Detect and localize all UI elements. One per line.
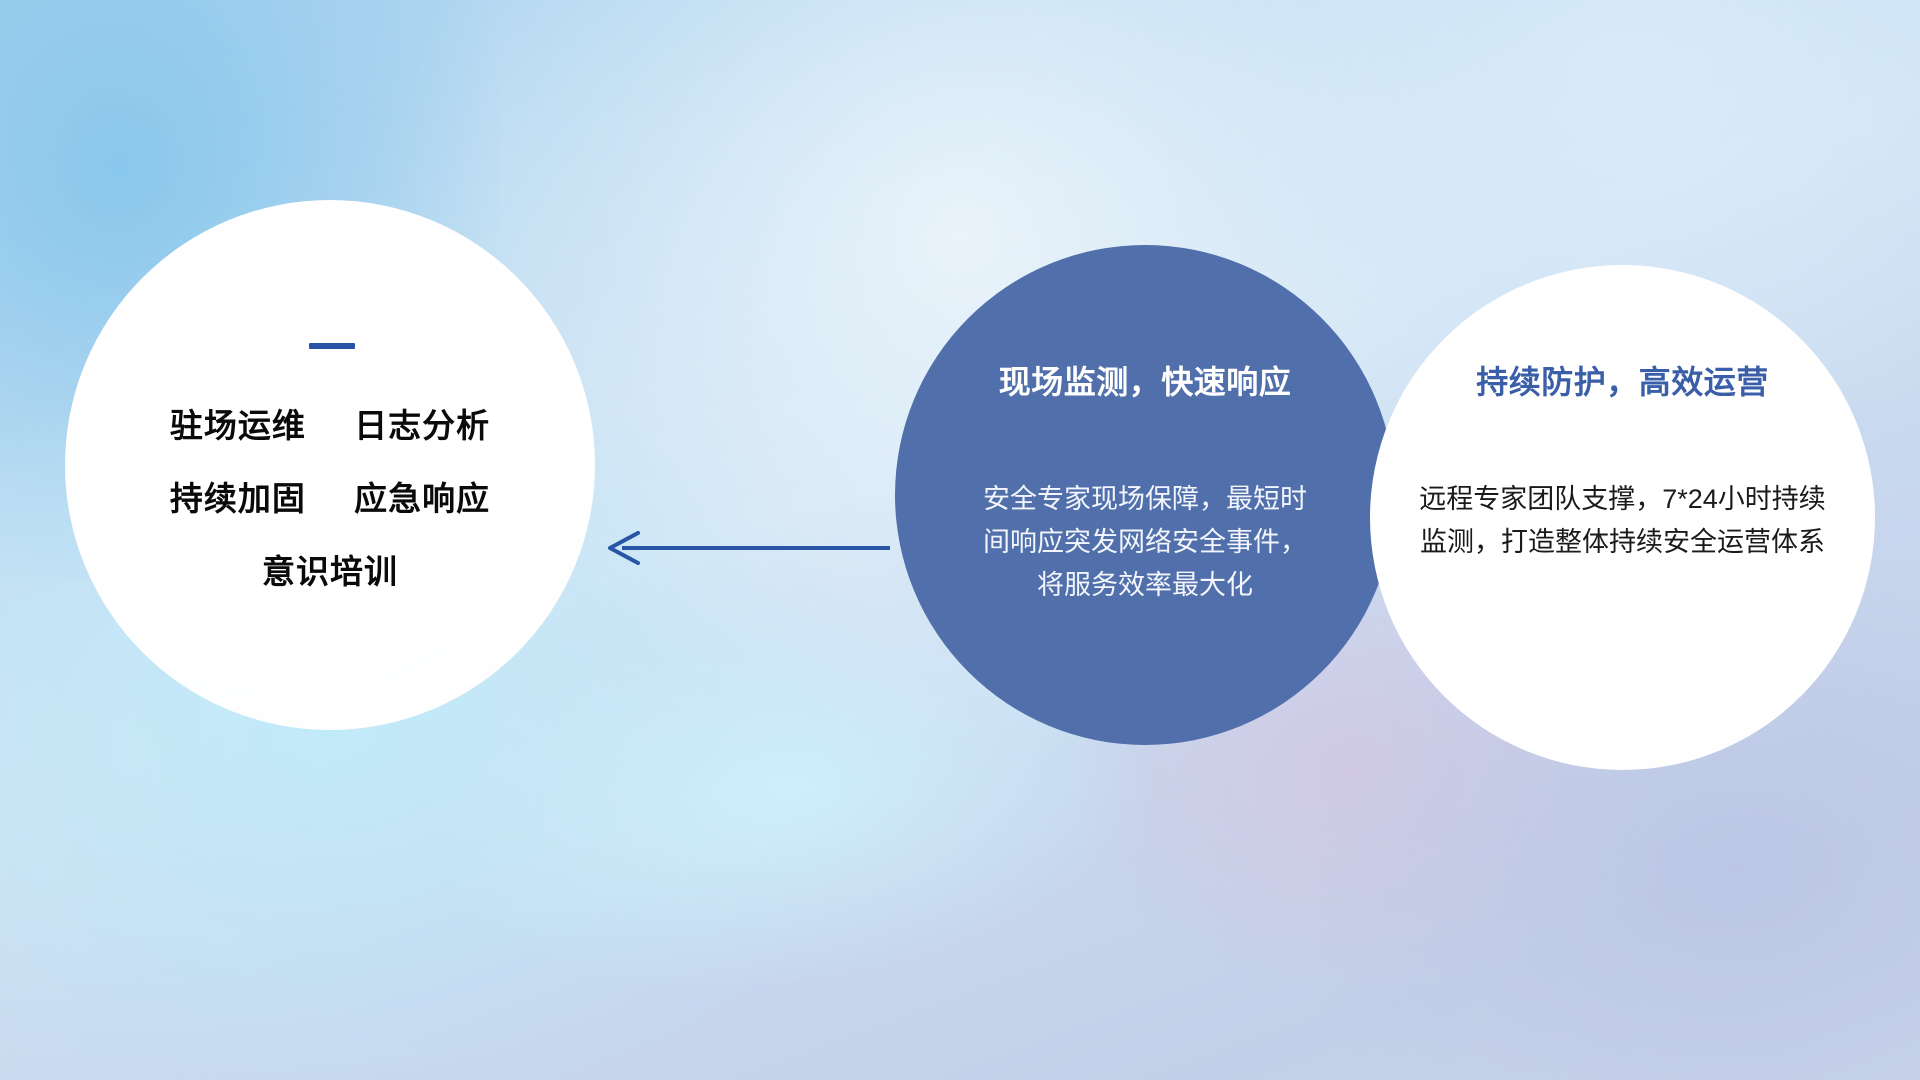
right-circle-title: 持续防护，高效运营	[1476, 365, 1769, 400]
middle-circle-title: 现场监测，快速响应	[999, 365, 1292, 400]
capability-item-log-analysis: 日志分析	[354, 407, 490, 444]
right-circle-body: 远程专家团队支撑，7*24小时持续监测，打造整体持续安全运营体系	[1413, 478, 1833, 563]
capability-item-emergency-response: 应急响应	[354, 480, 490, 517]
capability-row-3: 意识培训	[262, 555, 398, 588]
left-circle-content: 驻场运维 日志分析 持续加固 应急响应 意识培训	[65, 200, 595, 730]
capability-item-onsite-ops: 驻场运维	[170, 407, 306, 444]
capability-row-2: 持续加固 应急响应	[170, 482, 490, 515]
capability-item-continuous-hardening: 持续加固	[170, 480, 306, 517]
capability-row-1: 驻场运维 日志分析	[170, 409, 490, 442]
arrow-left-icon	[590, 520, 890, 576]
middle-circle-body: 安全专家现场保障，最短时间响应突发网络安全事件，将服务效率最大化	[980, 478, 1310, 606]
divider-dash	[309, 343, 355, 349]
right-circle-content: 持续防护，高效运营 远程专家团队支撑，7*24小时持续监测，打造整体持续安全运营…	[1370, 265, 1875, 770]
middle-circle-content: 现场监测，快速响应 安全专家现场保障，最短时间响应突发网络安全事件，将服务效率最…	[895, 245, 1395, 745]
capability-item-awareness-training: 意识培训	[262, 553, 398, 590]
